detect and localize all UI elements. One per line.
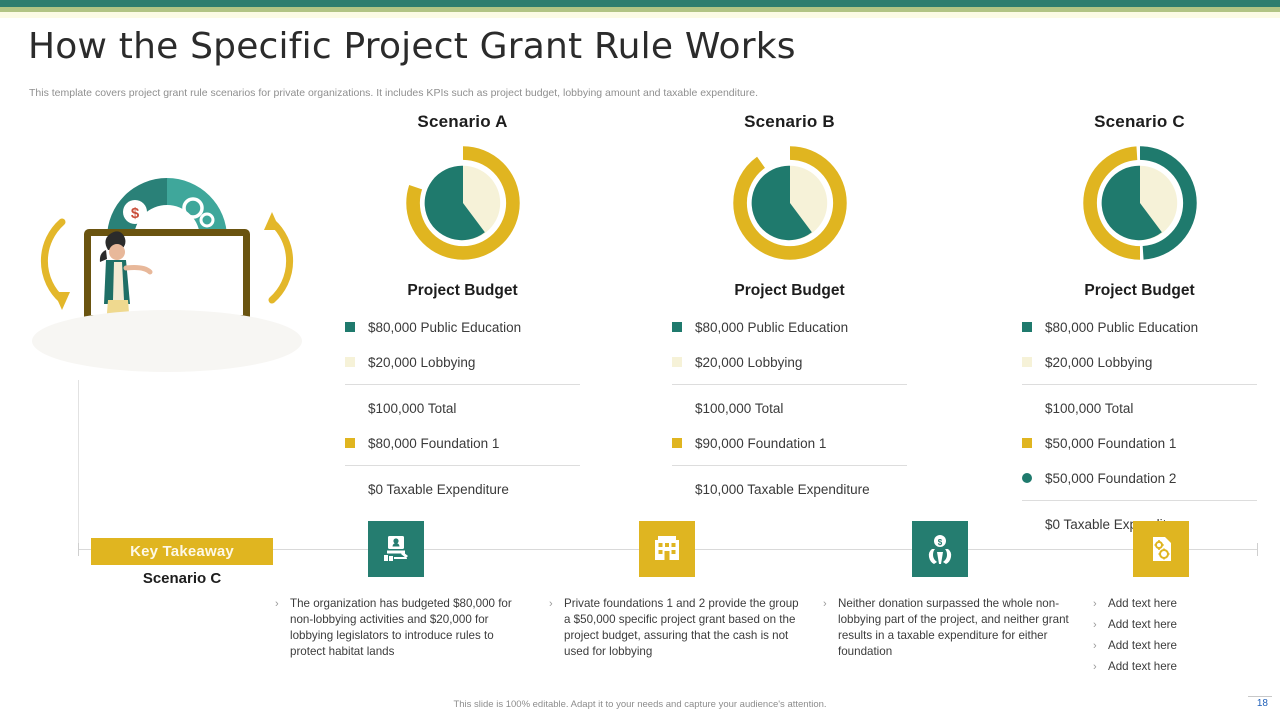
- scenario-title: Scenario B: [672, 112, 907, 132]
- legend-row: $80,000 Public Education: [1022, 314, 1257, 340]
- legend-swatch-blank: [672, 403, 682, 413]
- bullet-text: Add text here: [1108, 596, 1177, 612]
- legend-divider: [672, 384, 907, 385]
- page-title: How the Specific Project Grant Rule Work…: [28, 26, 796, 67]
- timeline-bullets-3: ›Neither donation surpassed the whole no…: [823, 596, 1073, 665]
- bullet-text: Add text here: [1108, 638, 1177, 654]
- bullet-text: Private foundations 1 and 2 provide the …: [564, 596, 799, 660]
- legend-row: $80,000 Public Education: [672, 314, 907, 340]
- legend-label: $80,000 Public Education: [695, 320, 848, 335]
- page-number-rule: [1248, 696, 1272, 697]
- bullet-item: ›Add text here: [1093, 638, 1280, 654]
- bullet-item: ›The organization has budgeted $80,000 f…: [275, 596, 525, 660]
- legend-label: $100,000 Total: [1045, 401, 1133, 416]
- legend-label: $50,000 Foundation 1: [1045, 436, 1176, 451]
- legend-swatch-blank: [345, 484, 355, 494]
- legend-swatch-sq-teal: [345, 322, 355, 332]
- legend-label: $10,000 Taxable Expenditure: [695, 482, 870, 497]
- bullet-item: ›Private foundations 1 and 2 provide the…: [549, 596, 799, 660]
- top-accent-bar-cream: [0, 12, 1280, 18]
- bullet-marker-icon: ›: [1093, 596, 1099, 612]
- timeline-bullets-2: ›Private foundations 1 and 2 provide the…: [549, 596, 799, 665]
- contract-signing-icon: [379, 532, 413, 566]
- legend-swatch-blank: [672, 484, 682, 494]
- legend-label: $20,000 Lobbying: [368, 355, 475, 370]
- legend-divider: [1022, 500, 1257, 501]
- legend-label: $80,000 Foundation 1: [368, 436, 499, 451]
- scenario-column-c: Scenario C Project Budget $80,000 Public…: [1022, 112, 1257, 546]
- legend-label: $90,000 Foundation 1: [695, 436, 826, 451]
- key-takeaway-label: Key Takeaway: [130, 543, 234, 560]
- bullet-text: Neither donation surpassed the whole non…: [838, 596, 1073, 660]
- footer-note: This slide is 100% editable. Adapt it to…: [0, 699, 1280, 710]
- timeline-bullets-4: ›Add text here›Add text here›Add text he…: [1093, 596, 1280, 680]
- bullet-marker-icon: ›: [1093, 617, 1099, 633]
- legend-swatch-sq-cream: [345, 357, 355, 367]
- legend-swatch-sq-teal: [1022, 322, 1032, 332]
- bullet-item: ›Add text here: [1093, 659, 1280, 675]
- scenario-title: Scenario A: [345, 112, 580, 132]
- legend-divider: [1022, 384, 1257, 385]
- scenario-legend-c: $80,000 Public Education$20,000 Lobbying…: [1022, 314, 1257, 537]
- legend-row: $80,000 Foundation 1: [345, 430, 580, 456]
- legend-label: $80,000 Public Education: [1045, 320, 1198, 335]
- legend-swatch-dot-teal: [1022, 473, 1032, 483]
- bullet-item: ›Add text here: [1093, 596, 1280, 612]
- budget-title: Project Budget: [1022, 282, 1257, 300]
- budget-title: Project Budget: [672, 282, 907, 300]
- timeline-left-cap: [78, 543, 79, 556]
- dollar-icon: $: [131, 205, 140, 222]
- legend-row: $20,000 Lobbying: [1022, 349, 1257, 375]
- timeline-vertical-connector: [78, 380, 79, 550]
- scenario-column-b: Scenario B Project Budget $80,000 Public…: [672, 112, 907, 511]
- bullet-marker-icon: ›: [823, 596, 829, 612]
- legend-swatch-blank: [1022, 519, 1032, 529]
- legend-row: $20,000 Lobbying: [672, 349, 907, 375]
- key-takeaway-scenario: Scenario C: [91, 570, 273, 587]
- scenario-legend-b: $80,000 Public Education$20,000 Lobbying…: [672, 314, 907, 502]
- institution-building-icon: [650, 532, 684, 566]
- legend-swatch-sq-teal: [672, 322, 682, 332]
- bullet-text: Add text here: [1108, 659, 1177, 675]
- bullet-text: Add text here: [1108, 617, 1177, 633]
- timeline-right-cap: [1257, 543, 1258, 556]
- scenario-column-a: Scenario A Project Budget $80,000 Public…: [345, 112, 580, 511]
- bullet-item: ›Add text here: [1093, 617, 1280, 633]
- bullet-text: The organization has budgeted $80,000 fo…: [290, 596, 525, 660]
- legend-swatch-blank: [1022, 403, 1032, 413]
- scenario-donut-chart-b: [725, 144, 855, 262]
- scenario-title: Scenario C: [1022, 112, 1257, 132]
- document-settings-icon: [1144, 532, 1178, 566]
- legend-label: $50,000 Foundation 2: [1045, 471, 1176, 486]
- legend-row: $100,000 Total: [345, 395, 580, 421]
- page-subtitle: This template covers project grant rule …: [29, 87, 758, 99]
- timeline-icon-box-3[interactable]: $: [912, 521, 968, 577]
- legend-row: $10,000 Taxable Expenditure: [672, 476, 907, 502]
- scenario-donut-chart-c: [1075, 144, 1205, 262]
- legend-label: $0 Taxable Expenditure: [368, 482, 509, 497]
- legend-row: $20,000 Lobbying: [345, 349, 580, 375]
- legend-row: $100,000 Total: [672, 395, 907, 421]
- legend-row: $100,000 Total: [1022, 395, 1257, 421]
- page-number: 18: [1257, 698, 1268, 709]
- slide-canvas: How the Specific Project Grant Rule Work…: [0, 0, 1280, 720]
- legend-label: $20,000 Lobbying: [1045, 355, 1152, 370]
- legend-label: $20,000 Lobbying: [695, 355, 802, 370]
- bullet-marker-icon: ›: [275, 596, 281, 612]
- legend-label: $80,000 Public Education: [368, 320, 521, 335]
- legend-divider: [345, 465, 580, 466]
- timeline-icon-box-2[interactable]: [639, 521, 695, 577]
- donut-svg-c: [1075, 144, 1205, 262]
- legend-row: $90,000 Foundation 1: [672, 430, 907, 456]
- top-accent-bar-teal: [0, 0, 1280, 7]
- bullet-item: ›Neither donation surpassed the whole no…: [823, 596, 1073, 660]
- bullet-marker-icon: ›: [1093, 659, 1099, 675]
- legend-label: $100,000 Total: [368, 401, 456, 416]
- legend-swatch-sq-gold: [672, 438, 682, 448]
- legend-swatch-blank: [345, 403, 355, 413]
- budget-title: Project Budget: [345, 282, 580, 300]
- donut-svg-b: [725, 144, 855, 262]
- timeline-icon-box-4[interactable]: [1133, 521, 1189, 577]
- legend-row: $80,000 Public Education: [345, 314, 580, 340]
- donut-svg-a: [398, 144, 528, 262]
- bullet-marker-icon: ›: [549, 596, 555, 612]
- illustration-shadow: [32, 310, 302, 372]
- timeline-icon-box-1[interactable]: [368, 521, 424, 577]
- legend-divider: [345, 384, 580, 385]
- legend-row: $0 Taxable Expenditure: [345, 476, 580, 502]
- hands-holding-money-icon: $: [923, 532, 957, 566]
- legend-row: $50,000 Foundation 1: [1022, 430, 1257, 456]
- legend-swatch-sq-cream: [672, 357, 682, 367]
- legend-swatch-sq-gold: [1022, 438, 1032, 448]
- timeline-bullets-1: ›The organization has budgeted $80,000 f…: [275, 596, 525, 665]
- refresh-arrows-icon: [44, 222, 62, 300]
- laptop-analytics-illustration: $: [22, 150, 312, 375]
- legend-row: $50,000 Foundation 2: [1022, 465, 1257, 491]
- scenario-donut-chart-a: [398, 144, 528, 262]
- key-takeaway-badge: Key Takeaway: [91, 538, 273, 565]
- svg-text:$: $: [938, 538, 943, 547]
- legend-label: $100,000 Total: [695, 401, 783, 416]
- legend-divider: [672, 465, 907, 466]
- bullet-marker-icon: ›: [1093, 638, 1099, 654]
- legend-swatch-sq-cream: [1022, 357, 1032, 367]
- legend-swatch-sq-gold: [345, 438, 355, 448]
- scenario-legend-a: $80,000 Public Education$20,000 Lobbying…: [345, 314, 580, 502]
